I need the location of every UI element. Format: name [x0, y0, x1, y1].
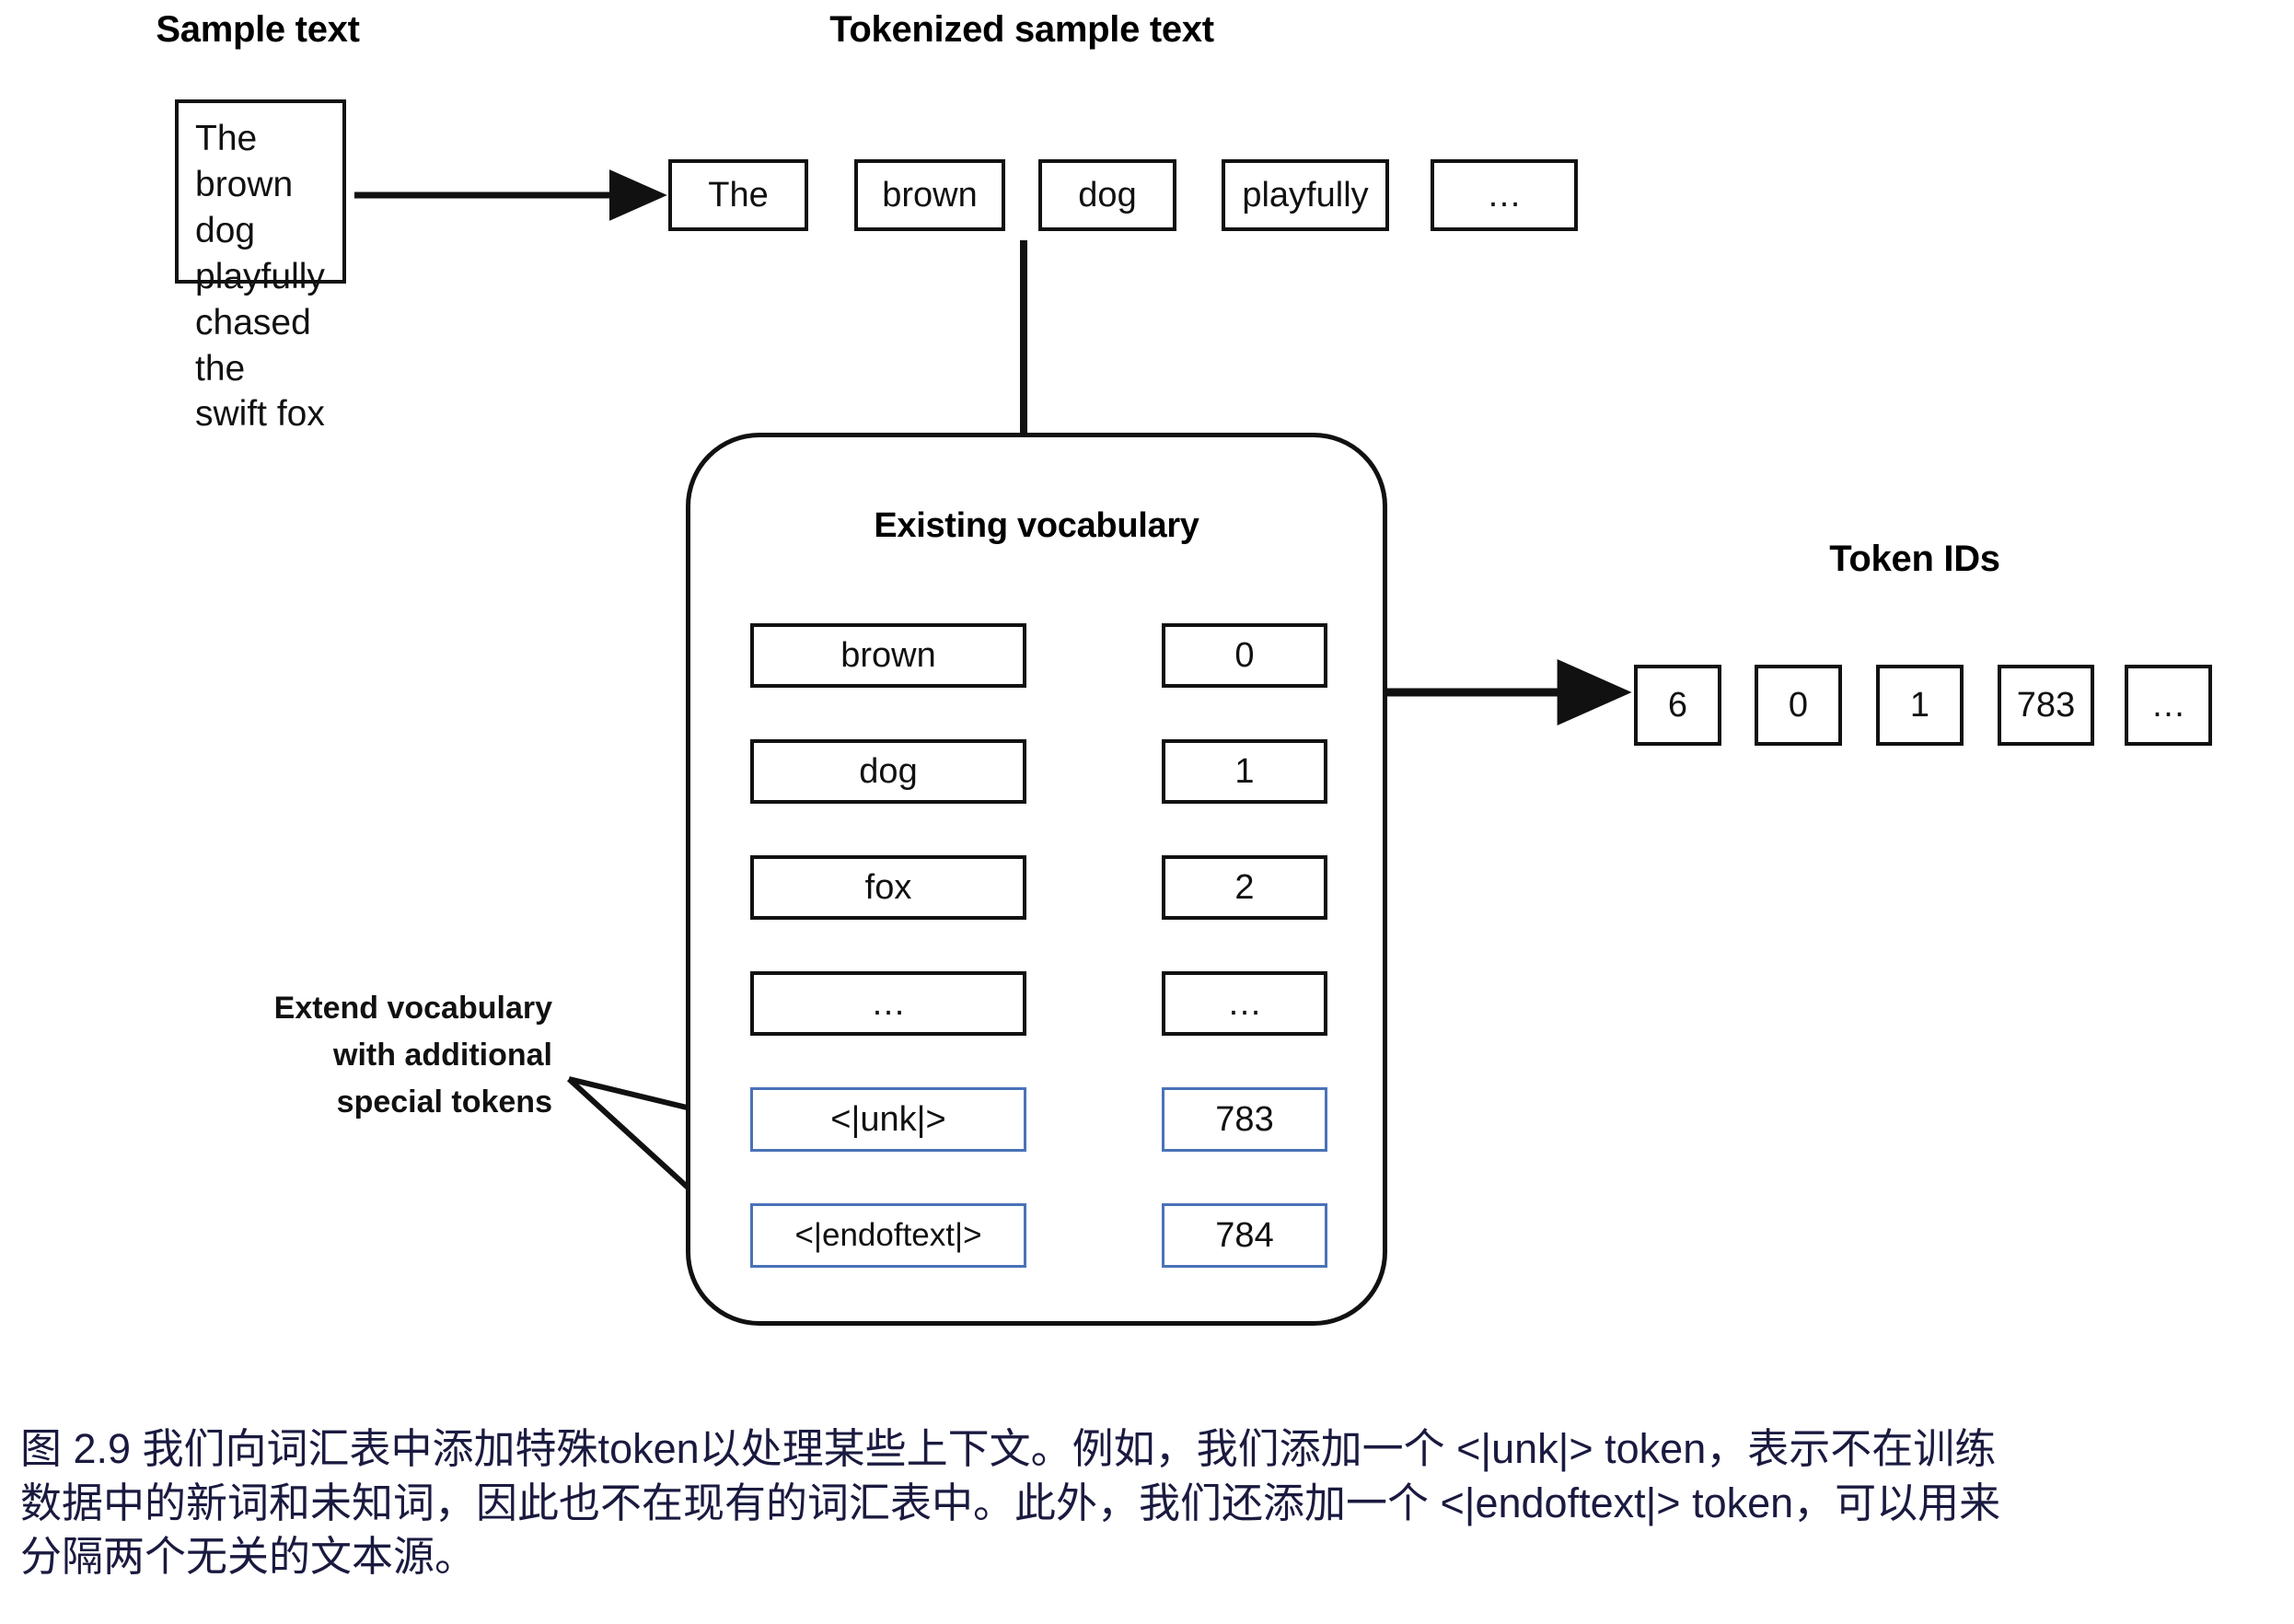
heading-token-ids: Token IDs [1685, 539, 2145, 580]
token-box-the[interactable]: The [668, 159, 808, 231]
token-box-brown[interactable]: brown [854, 159, 1005, 231]
token-id-label: 6 [1668, 686, 1687, 725]
vocab-token-box-brown[interactable]: brown [750, 623, 1026, 688]
token-id-box-1[interactable]: 0 [1755, 665, 1842, 746]
token-label: playfully [1242, 176, 1368, 215]
token-id-box-0[interactable]: 6 [1634, 665, 1721, 746]
vocab-id-label: 784 [1215, 1216, 1273, 1256]
vocab-token-label: <|endoftext|> [794, 1217, 981, 1254]
annotation-line-3: special tokens [175, 1079, 552, 1126]
sample-text-line-1: The brown dog [195, 116, 326, 254]
vocab-token-box-unk[interactable]: <|unk|> [750, 1087, 1026, 1152]
vocab-id-box-783[interactable]: 783 [1162, 1087, 1327, 1152]
vocab-id-box-1[interactable]: 1 [1162, 739, 1327, 804]
token-id-label: 1 [1910, 686, 1929, 725]
vocab-id-box-ellipsis[interactable]: … [1162, 971, 1327, 1036]
heading-sample-text: Sample text [101, 9, 414, 51]
vocab-token-label: … [871, 984, 906, 1024]
token-id-box-2[interactable]: 1 [1876, 665, 1964, 746]
annotation-line-2: with additional [175, 1032, 552, 1079]
vocab-id-box-784[interactable]: 784 [1162, 1203, 1327, 1268]
token-id-label: 783 [2017, 686, 2075, 725]
vocab-id-label: 783 [1215, 1100, 1273, 1140]
token-label: … [1487, 176, 1522, 215]
token-id-box-3[interactable]: 783 [1998, 665, 2094, 746]
vocab-token-label: fox [865, 868, 912, 908]
vocab-token-box-dog[interactable]: dog [750, 739, 1026, 804]
token-label: brown [882, 176, 978, 215]
vocab-token-box-fox[interactable]: fox [750, 855, 1026, 920]
sample-text-line-3: the swift fox [195, 346, 326, 438]
annotation-extend-vocabulary: Extend vocabulary with additional specia… [175, 985, 552, 1126]
token-id-label: … [2151, 686, 2186, 725]
vocab-token-label: brown [840, 636, 936, 676]
token-box-ellipsis[interactable]: … [1431, 159, 1578, 231]
vocab-token-label: <|unk|> [830, 1100, 945, 1140]
token-id-label: 0 [1789, 686, 1808, 725]
vocab-token-label: dog [859, 752, 917, 792]
vocab-id-box-2[interactable]: 2 [1162, 855, 1327, 920]
sample-text-box: The brown dog playfully chased the swift… [175, 99, 346, 284]
vocab-token-box-ellipsis[interactable]: … [750, 971, 1026, 1036]
vocab-id-label: 1 [1234, 752, 1254, 792]
caption-line-1: 图 2.9 我们向词汇表中添加特殊token以处理某些上下文。例如，我们添加一个… [20, 1422, 2285, 1477]
heading-existing-vocabulary: Existing vocabulary [686, 506, 1387, 546]
vocab-id-label: … [1227, 984, 1262, 1024]
vocab-id-label: 0 [1234, 636, 1254, 676]
token-box-playfully[interactable]: playfully [1222, 159, 1389, 231]
annotation-line-1: Extend vocabulary [175, 985, 552, 1032]
caption-line-2: 数据中的新词和未知词，因此也不在现有的词汇表中。此外，我们还添加一个 <|end… [20, 1477, 2285, 1531]
vocab-token-box-endoftext[interactable]: <|endoftext|> [750, 1203, 1026, 1268]
vocab-id-box-0[interactable]: 0 [1162, 623, 1327, 688]
token-id-box-4[interactable]: … [2125, 665, 2212, 746]
figure-caption: 图 2.9 我们向词汇表中添加特殊token以处理某些上下文。例如，我们添加一个… [20, 1422, 2285, 1584]
heading-tokenized-sample-text: Tokenized sample text [718, 9, 1326, 51]
token-label: The [708, 176, 768, 215]
vocab-id-label: 2 [1234, 868, 1254, 908]
token-label: dog [1078, 176, 1136, 215]
token-box-dog[interactable]: dog [1038, 159, 1176, 231]
caption-line-3: 分隔两个无关的文本源。 [20, 1530, 2285, 1584]
sample-text-line-2: playfully chased [195, 254, 326, 346]
